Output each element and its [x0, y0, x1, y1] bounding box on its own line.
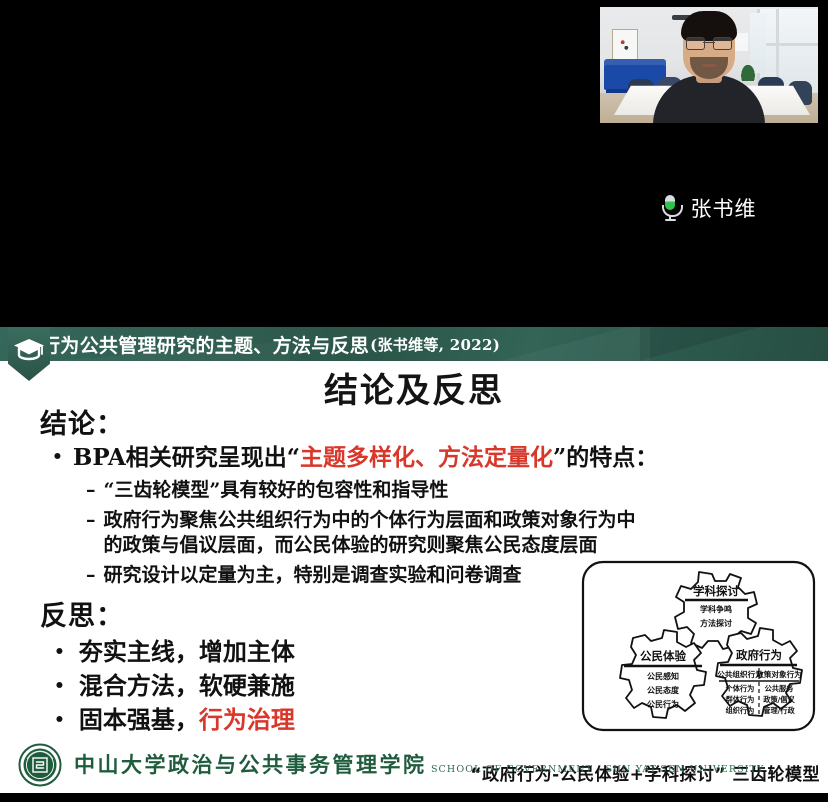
svg-text:公民行为: 公民行为	[647, 699, 679, 709]
video-frame	[600, 7, 818, 123]
graduation-cap-icon	[8, 327, 50, 381]
svg-text:政策对象行为: 政策对象行为	[756, 669, 802, 679]
institution-logo: 中山大学政治与公共事务管理学院 SCHOOL OF GOVERNMENT . S…	[18, 743, 764, 787]
conclusion-subpoint: – 研究设计以定量为主，特别是调查实验和问卷调查	[86, 563, 646, 588]
svg-text:管理/行政: 管理/行政	[763, 706, 795, 715]
svg-text:政府行为: 政府行为	[736, 648, 782, 662]
subpoint-dash: –	[86, 508, 96, 558]
bullet-dot: •	[52, 449, 63, 466]
subpoint-dash: –	[86, 478, 96, 503]
three-gear-model-diagram: 学科探讨 学科争鸣 方法探讨 政府行为 公共组织行为 政策对象行为 个体行为 群…	[581, 560, 816, 732]
svg-text:方法探讨: 方法探讨	[700, 618, 732, 628]
reflection-bullet-text: 混合方法，软硬兼施	[79, 669, 295, 703]
institution-name: 中山大学政治与公共事务管理学院 SCHOOL OF GOVERNMENT . S…	[74, 753, 764, 777]
svg-text:群体行为: 群体行为	[726, 695, 755, 704]
presenter-glasses	[686, 37, 732, 49]
speaker-name-row: 张书维	[600, 190, 818, 226]
slide-header-citation: (张书维等, 2022)	[370, 334, 500, 355]
subpoint-text: 研究设计以定量为主，特别是调查实验和问卷调查	[104, 563, 647, 588]
svg-text:组织行为: 组织行为	[726, 706, 755, 715]
speaker-name: 张书维	[691, 193, 757, 223]
conclusion-heading: 结论：	[40, 409, 808, 440]
svg-text:公共服务: 公共服务	[765, 684, 795, 693]
bullet-dot: •	[54, 708, 65, 732]
slide-page-title: 结论及反思	[0, 363, 828, 412]
meeting-stage: 张书维 行为公共管理研究的主题、方法与反思(张书维等, 2022) 结论及反思 …	[0, 0, 828, 802]
self-view-video-tile[interactable]	[600, 7, 818, 123]
svg-text:公民感知: 公民感知	[647, 671, 679, 681]
shared-slide[interactable]: 行为公共管理研究的主题、方法与反思(张书维等, 2022) 结论及反思 结论： …	[0, 327, 828, 793]
svg-text:政策/倡议: 政策/倡议	[763, 695, 795, 704]
subpoint-text: 政府行为聚焦公共组织行为中的个体行为层面和政策对象行为中的政策与倡议层面，而公民…	[104, 508, 647, 558]
svg-text:公民体验: 公民体验	[640, 649, 686, 663]
bullet-dot: •	[54, 674, 65, 698]
institution-name-cn: 中山大学政治与公共事务管理学院	[74, 753, 427, 777]
presenter-mouth	[702, 64, 716, 67]
bullet-dot: •	[54, 640, 65, 664]
reflection-bullet-text: 固本强基，行为治理	[79, 703, 295, 737]
gear-government: 政府行为 公共组织行为 政策对象行为 个体行为 群体行为 组织行为 公共服务 政…	[716, 628, 802, 716]
institution-name-en: SCHOOL OF GOVERNMENT . SUN YAT-SEN UNIVE…	[431, 764, 764, 775]
conclusion-subpoint: – 政府行为聚焦公共组织行为中的个体行为层面和政策对象行为中的政策与倡议层面，而…	[86, 508, 646, 558]
sysu-seal-logo-icon	[18, 743, 62, 787]
subpoint-text: “三齿轮模型”具有较好的包容性和指导性	[104, 478, 647, 503]
gear-diagram-svg: 学科探讨 学科争鸣 方法探讨 政府行为 公共组织行为 政策对象行为 个体行为 群…	[581, 560, 816, 732]
gear-citizen: 公民体验 公民感知 公民态度 公民行为	[620, 630, 706, 718]
svg-text:公民态度: 公民态度	[647, 685, 680, 695]
potted-plant	[740, 63, 756, 81]
bottom-letterbox	[0, 793, 828, 802]
graduation-cap-glyph	[13, 337, 45, 361]
conclusion-subpoint: – “三齿轮模型”具有较好的包容性和指导性	[86, 478, 646, 503]
conclusion-bullet: • BPA相关研究呈现出“主题多样化、方法定量化”的特点：	[52, 443, 808, 473]
svg-text:个体行为: 个体行为	[725, 684, 755, 693]
reflection-bullet-text: 夯实主线，增加主体	[79, 635, 295, 669]
microphone-icon[interactable]	[662, 195, 679, 221]
wall-picture	[612, 29, 638, 61]
svg-text:学科探讨: 学科探讨	[693, 584, 739, 598]
slide-header-title: 行为公共管理研究的主题、方法与反思(张书维等, 2022)	[41, 327, 500, 361]
subpoint-dash: –	[86, 563, 96, 588]
slide-header-title-text: 行为公共管理研究的主题、方法与反思	[41, 331, 369, 358]
svg-text:学科争鸣: 学科争鸣	[700, 604, 732, 614]
conclusion-bullet-text: BPA相关研究呈现出“主题多样化、方法定量化”的特点：	[73, 443, 658, 473]
